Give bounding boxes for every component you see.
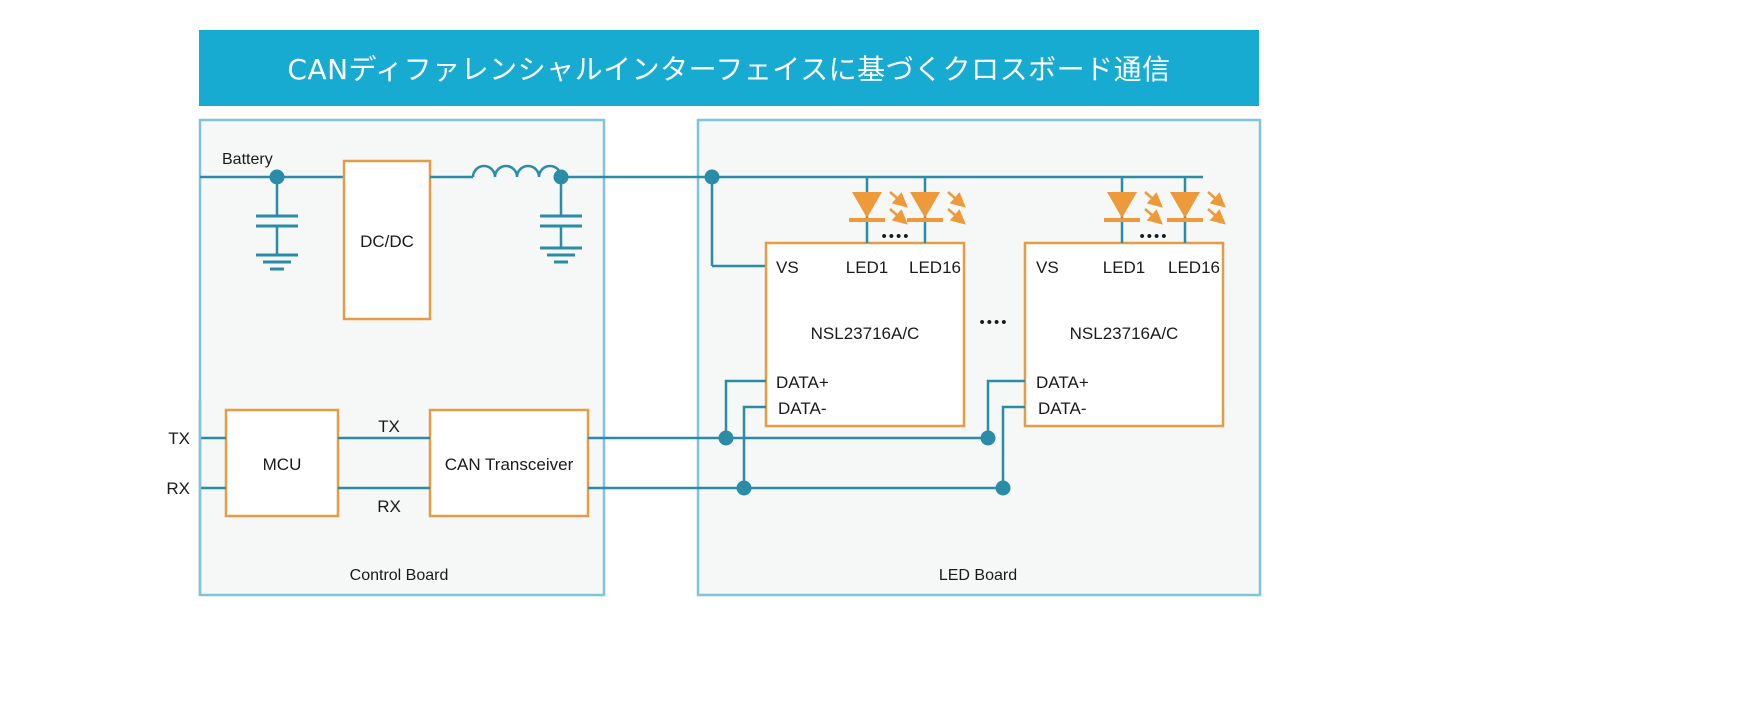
led-board-power-node [705, 170, 720, 185]
drivers-ellipsis: •••• [979, 314, 1008, 331]
driver2-part-number: NSL23716A/C [1070, 324, 1179, 343]
driver1-led1-label: LED1 [846, 258, 889, 277]
external-tx-label: TX [168, 429, 190, 448]
driver2-data-minus-label: DATA- [1038, 399, 1086, 418]
internal-rx-label: RX [377, 497, 401, 516]
driver1-part-number: NSL23716A/C [811, 324, 920, 343]
driver2-led16-label: LED16 [1168, 258, 1220, 277]
driver1-data-plus-label: DATA+ [776, 373, 829, 392]
external-rx-label: RX [166, 479, 190, 498]
driver2-data-plus-label: DATA+ [1036, 373, 1089, 392]
driver2-led1-label: LED1 [1103, 258, 1146, 277]
battery-label: Battery [222, 151, 273, 168]
driver1-led-ellipsis: •••• [881, 228, 910, 245]
driver2-data-minus-node [996, 481, 1011, 496]
driver1-data-minus-node [737, 481, 752, 496]
diagram-canvas: CANディファレンシャルインターフェイスに基づくクロスボード通信 [0, 0, 1762, 717]
driver2-vs-label: VS [1036, 258, 1059, 277]
can-transceiver-label: CAN Transceiver [445, 455, 574, 474]
driver2-led-ellipsis: •••• [1139, 228, 1168, 245]
internal-tx-label: TX [378, 417, 400, 436]
control-board-caption: Control Board [350, 567, 449, 584]
driver1-data-minus-label: DATA- [778, 399, 826, 418]
dcdc-label: DC/DC [360, 232, 414, 251]
driver1-led16-label: LED16 [909, 258, 961, 277]
driver1-vs-label: VS [776, 258, 799, 277]
led-board-caption: LED Board [939, 567, 1017, 584]
schematic-svg: Battery DC/DC MCU CAN Transceiver TX RX … [0, 0, 1762, 717]
driver1-data-plus-node [719, 431, 734, 446]
mcu-label: MCU [263, 455, 302, 474]
driver2-data-plus-node [981, 431, 996, 446]
